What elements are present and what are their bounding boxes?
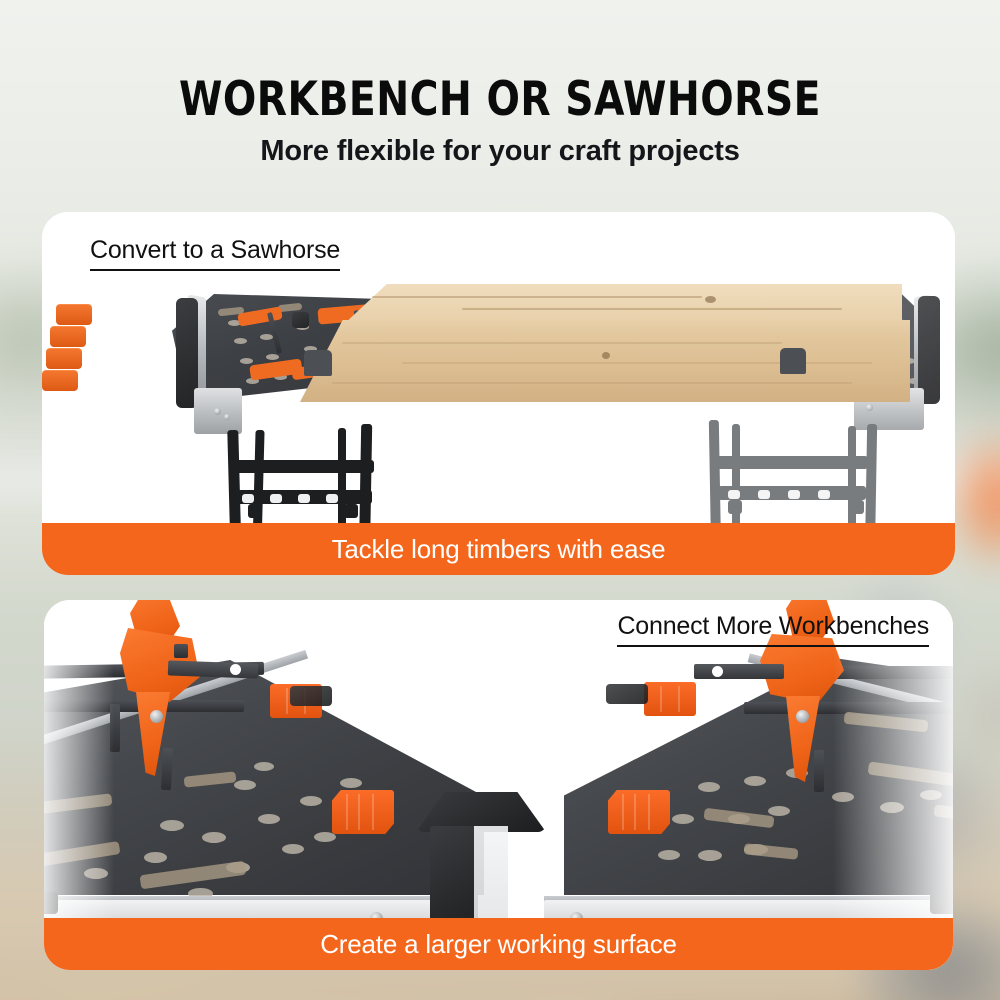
card-label-connect: Connect More Workbenches [617,612,929,647]
screw [214,408,221,415]
foot-bracket [850,500,864,514]
screw [866,404,873,411]
photo-fade-left [44,600,114,970]
dog-hole [300,796,322,806]
foot-bracket [344,504,358,518]
dog-rib [660,686,662,712]
wood-grain [372,296,702,298]
dog-hole [254,762,274,771]
clamp-pin [814,750,824,792]
plank-notch [780,348,806,374]
screw [224,414,230,420]
brace-hole [728,490,740,499]
dog-hole [768,806,790,816]
dog-hole [698,850,722,861]
leg-brace-upper [234,460,374,473]
dog-hole [234,338,247,344]
plank-front-face [300,320,910,402]
dog-rib [648,794,650,830]
bench-dog-wedge [332,790,394,834]
wood-grain [342,342,782,344]
page-subheadline: More flexible for your craft projects [0,135,1000,168]
clamp-bar-hole [712,666,723,677]
wood-grain [332,382,852,384]
dog-rib [346,794,348,830]
brace-hole [818,490,830,499]
background-plank [0,972,208,1000]
dog-hole [282,844,304,854]
clamp-block [42,370,78,391]
dog-hole [672,814,694,824]
plank-notch [304,350,332,376]
dog-hole [266,354,279,360]
foot-bracket [728,500,742,514]
dog-hole [340,778,362,788]
corner-cap-rear [606,684,648,704]
dog-rib [678,686,680,712]
bench-dog-block [644,682,696,716]
banner-larger-surface: Create a larger working surface [44,918,953,970]
dog-hole [698,782,720,792]
dog-rib [634,794,636,830]
product-infographic: WORKBENCH OR SAWHORSE More flexible for … [0,0,1000,1000]
brace-hole [242,494,254,503]
dog-rib [372,794,374,830]
clamp-knob [292,312,309,328]
leg-brace-upper [716,456,868,469]
dog-hole [202,832,226,843]
wood-knot [602,352,610,359]
dog-hole [234,780,256,790]
dog-hole [144,852,167,863]
foot-bracket [248,504,262,518]
photo-fade-right [833,600,953,970]
dog-hole [160,820,184,831]
wood-grain [462,308,842,310]
brace-hole [298,494,310,503]
plank-top-face [342,284,902,326]
dog-rib [358,794,360,830]
dog-rib [286,688,288,714]
dog-hole [260,334,273,340]
page-headline: WORKBENCH OR SAWHORSE [35,72,965,127]
clamp-bar [694,664,784,679]
brace-hole [270,494,282,503]
feature-card-connect: Connect More Workbenches Create a larger… [44,600,953,970]
dog-rib [622,794,624,830]
brace-hole [788,490,800,499]
bench-dog-wedge [608,790,670,834]
dog-hole [240,358,253,364]
banner-tackle-timbers: Tackle long timbers with ease [42,523,955,575]
brace-hole [758,490,770,499]
corner-cap-rear [290,686,332,706]
clamp-block [174,644,188,658]
wood-knot [705,296,716,303]
brace-hole [326,494,338,503]
connected-benches-photo: Connect More Workbenches [44,600,953,970]
clamp-pivot [150,710,163,723]
background-orange-object [948,433,1000,567]
clamp-bar-hole [230,664,241,675]
clamp-bar [168,660,258,678]
clamp-pivot [796,710,809,723]
dog-hole [658,850,680,860]
feature-card-sawhorse: Convert to a Sawhorse Tackle long timber… [42,212,955,575]
clamp-block [46,348,82,369]
dog-hole [744,776,766,786]
card-label-sawhorse: Convert to a Sawhorse [90,236,340,271]
dog-hole [258,814,280,824]
sawhorse-photo: Convert to a Sawhorse [42,212,955,575]
clamp-block [50,326,86,347]
clamp-block [56,304,92,325]
